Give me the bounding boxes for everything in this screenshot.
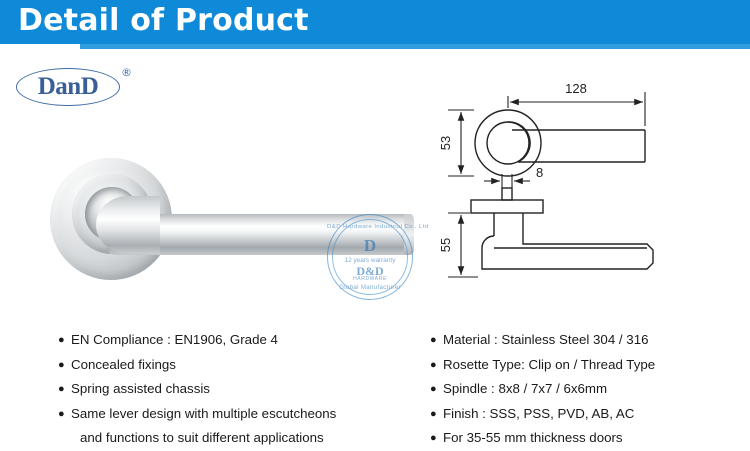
dimension-label-8: 8 xyxy=(536,165,543,180)
dimension-label-128: 128 xyxy=(565,81,587,96)
drawing-top-view xyxy=(475,110,645,176)
bullet-icon: ● xyxy=(58,353,65,378)
bullet-icon: ● xyxy=(430,377,437,402)
spec-right-item: ●Spindle : 8x8 / 7x7 / 6x6mm xyxy=(430,377,740,402)
technical-drawings: 128 53 8 xyxy=(440,78,690,303)
bullet-icon: ● xyxy=(58,402,65,427)
spec-list-left: ●EN Compliance : EN1906, Grade 4●Conceal… xyxy=(58,328,408,451)
spec-left-item: ●Spring assisted chassis xyxy=(58,377,408,402)
watermark-arc-top-text: D&D Hardware Industrial Co., Ltd xyxy=(327,223,413,230)
registered-trademark-icon: ® xyxy=(121,66,132,79)
spec-right-text: Finish : SSS, PSS, PVD, AB, AC xyxy=(443,406,634,421)
bullet-icon: ● xyxy=(58,377,65,402)
lever-neck xyxy=(96,196,160,254)
spec-list-right: ●Material : Stainless Steel 304 / 316●Ro… xyxy=(430,328,740,451)
spec-left-text: Spring assisted chassis xyxy=(71,381,210,396)
bullet-icon: ● xyxy=(430,426,437,451)
watermark-brand-subtext: HARDWARE xyxy=(327,276,413,282)
dimension-label-55: 55 xyxy=(440,238,453,252)
spec-left-text: EN Compliance : EN1906, Grade 4 xyxy=(71,332,278,347)
spec-right-item: ●Material : Stainless Steel 304 / 316 xyxy=(430,328,740,353)
bullet-icon: ● xyxy=(430,353,437,378)
dimension-128 xyxy=(508,92,645,126)
spec-left-item: ●Same lever design with multiple escutch… xyxy=(58,402,408,427)
dimension-label-53: 53 xyxy=(440,136,453,150)
bullet-icon: ● xyxy=(430,328,437,353)
spec-left-text: Concealed fixings xyxy=(71,357,176,372)
header-banner: Detail of Product xyxy=(0,0,750,44)
watermark-warranty-text: 12 years warranty xyxy=(327,257,413,264)
drawing-svg: 128 53 8 xyxy=(440,78,690,303)
watermark-arc-bottom-text: Global Manufacturer xyxy=(327,284,413,291)
logo-brand-text: DanD xyxy=(16,68,120,106)
spec-right-text: Material : Stainless Steel 304 / 316 xyxy=(443,332,648,347)
spec-right-text: Spindle : 8x8 / 7x7 / 6x6mm xyxy=(443,381,607,396)
page-title: Detail of Product xyxy=(18,3,309,38)
header-underline-strip xyxy=(80,44,750,49)
spec-right-text: Rosette Type: Clip on / Thread Type xyxy=(443,357,655,372)
watermark-seal: D&D Hardware Industrial Co., Ltd D 12 ye… xyxy=(327,214,413,300)
spec-right-item: ●For 35-55 mm thickness doors xyxy=(430,426,740,451)
bullet-icon: ● xyxy=(58,328,65,353)
spec-left-text: Same lever design with multiple escutche… xyxy=(71,406,336,421)
spec-left-item: ●EN Compliance : EN1906, Grade 4 xyxy=(58,328,408,353)
brand-logo: DanD ® xyxy=(16,60,146,112)
drawing-side-view xyxy=(471,188,653,269)
bullet-icon: ● xyxy=(430,402,437,427)
spec-right-text: For 35-55 mm thickness doors xyxy=(443,430,623,445)
spec-left-item-continuation: and functions to suit different applicat… xyxy=(58,426,408,451)
spec-right-item: ●Finish : SSS, PSS, PVD, AB, AC xyxy=(430,402,740,427)
spec-right-item: ●Rosette Type: Clip on / Thread Type xyxy=(430,353,740,378)
watermark-monogram-icon: D xyxy=(327,236,413,256)
spec-left-item: ●Concealed fixings xyxy=(58,353,408,378)
